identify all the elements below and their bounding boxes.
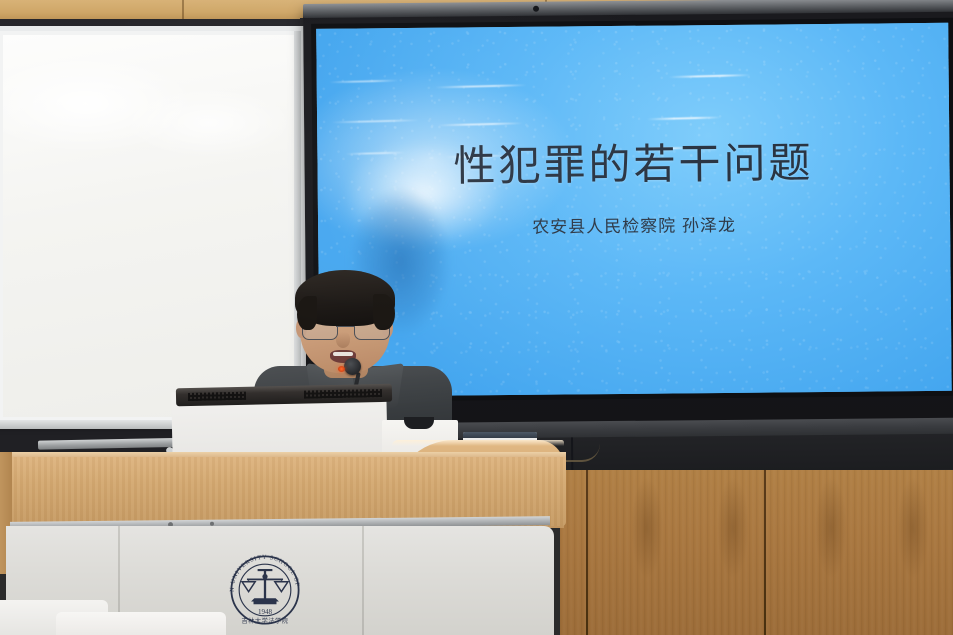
display-sensor-icon [533, 6, 539, 12]
whiteboard-surface [3, 35, 297, 417]
svg-text:吉林大学法学院: 吉林大学法学院 [242, 617, 289, 625]
whiteboard [0, 26, 306, 426]
podium-top-edge [0, 452, 566, 457]
monitor-vent-left [188, 392, 246, 401]
svg-text:1948: 1948 [258, 608, 273, 616]
presenter-nose [336, 332, 350, 348]
monitor-vent-right [304, 389, 382, 399]
presenter-hair [295, 270, 395, 326]
panel-notch [404, 417, 434, 429]
laptop-lid [463, 432, 537, 438]
microphone-icon [344, 358, 361, 375]
lecture-room-photo: 性犯罪的若干问题 农安县人民检察院 孙泽龙 [0, 0, 953, 635]
display-top-rail [303, 0, 953, 18]
podium-shelf-front [56, 612, 226, 635]
university-emblem: JILIN UNIVERSITY SCHOOL OF LAW 1948 吉林大学… [224, 548, 306, 632]
microphone-indicator-light [338, 366, 345, 372]
podium-wood-front [0, 452, 566, 526]
wood-wall-panel [560, 470, 953, 635]
